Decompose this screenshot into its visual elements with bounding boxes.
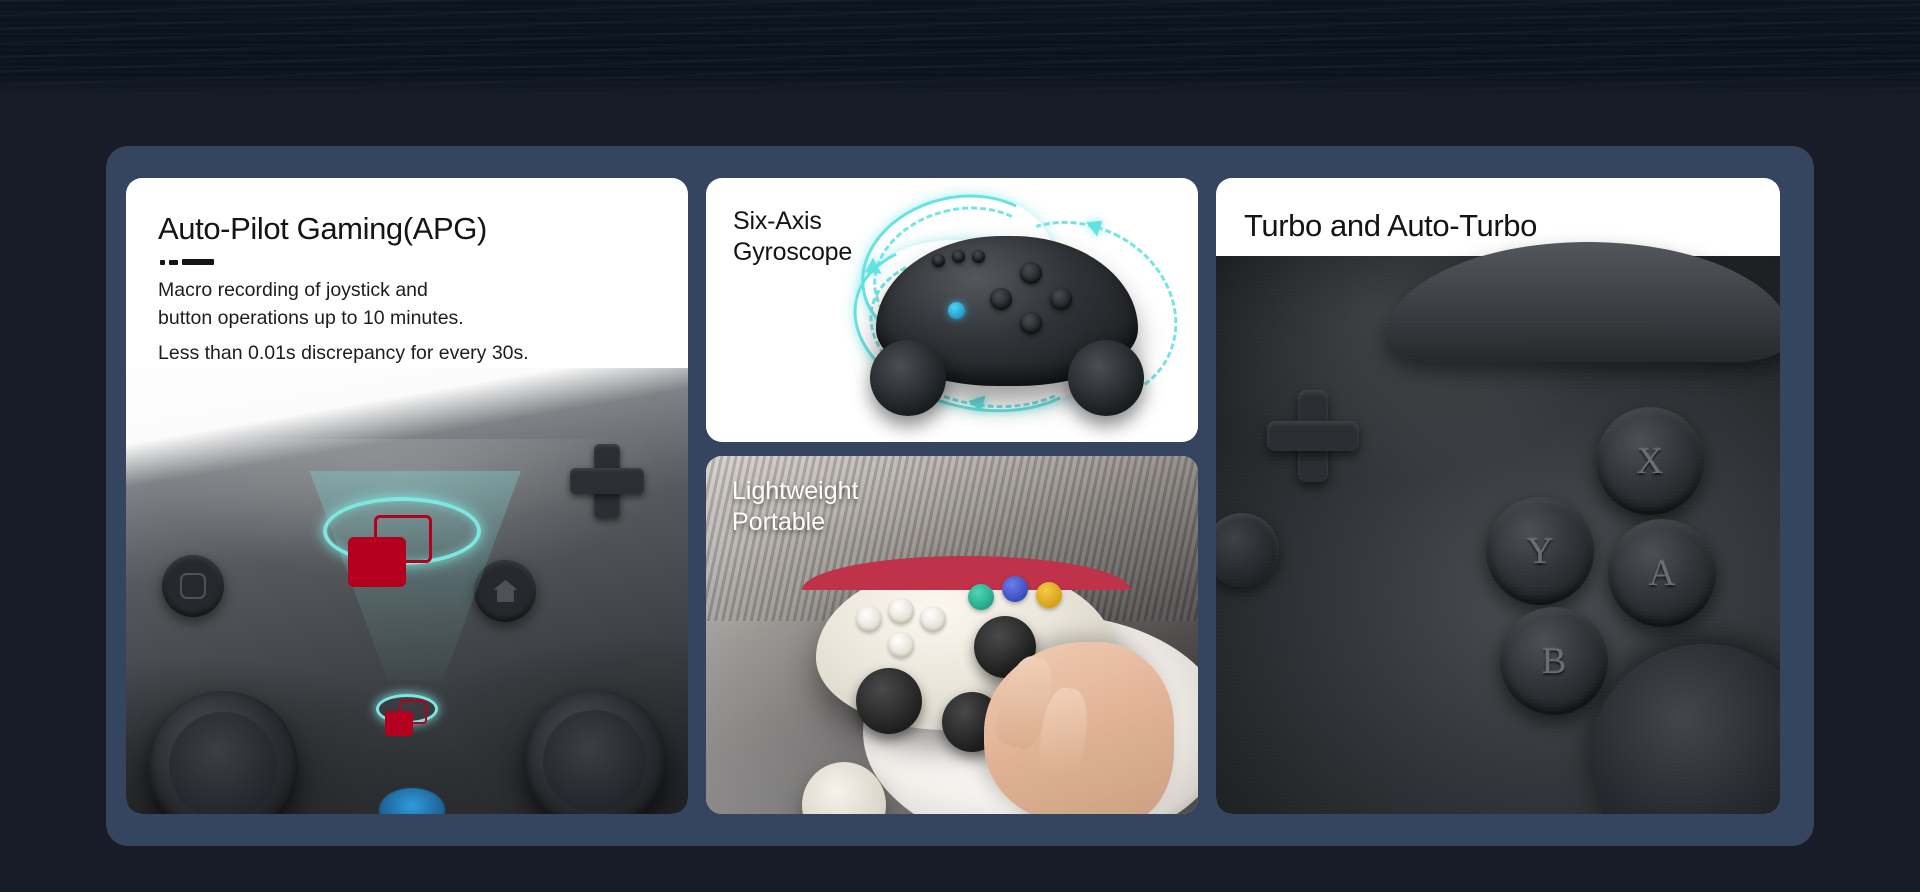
card-auto-pilot-gaming[interactable]: Auto-Pilot Gaming(APG) Macro recording o… (126, 178, 688, 814)
green-button (968, 584, 994, 610)
white-button-1 (856, 606, 882, 632)
macro-copy-icon-large (348, 515, 432, 587)
dpad-icon (570, 444, 644, 518)
button-x: X (1596, 407, 1704, 515)
white-button-2 (888, 598, 914, 624)
blue-button (1002, 576, 1028, 602)
apg-text-block: Auto-Pilot Gaming(APG) Macro recording o… (126, 178, 688, 368)
card-lightweight-portable[interactable]: Lightweight Portable (706, 456, 1198, 814)
turbo-dpad-icon (1267, 390, 1359, 482)
left-analog-stick (148, 691, 298, 814)
face-button-x (1020, 262, 1042, 284)
card-six-axis-gyroscope[interactable]: Six-Axis Gyroscope (706, 178, 1198, 442)
lightweight-title: Lightweight Portable (732, 476, 858, 537)
button-a: A (1608, 519, 1716, 627)
face-button-y (990, 288, 1012, 310)
yellow-button (1036, 582, 1062, 608)
apg-title: Auto-Pilot Gaming(APG) (158, 212, 688, 246)
capture-button-icon (162, 555, 224, 617)
white-left-stick (856, 668, 922, 734)
apg-accent-rule (160, 259, 688, 265)
turbo-home-button (1216, 513, 1279, 587)
wood-texture-backdrop (0, 0, 1920, 100)
macro-copy-icon-small (385, 700, 427, 736)
button-y: Y (1486, 497, 1594, 605)
apg-desc-line-2: button operations up to 10 minutes. (158, 307, 464, 329)
mini-button-2 (952, 250, 965, 263)
macro-beam-overlay (300, 471, 530, 681)
card-turbo-auto-turbo[interactable]: Turbo and Auto-Turbo X Y A B (1216, 178, 1780, 814)
column-middle: Six-Axis Gyroscope (706, 178, 1198, 814)
turbo-title: Turbo and Auto-Turbo (1244, 208, 1537, 244)
turbo-controller-photo: X Y A B (1216, 256, 1780, 814)
column-left: Auto-Pilot Gaming(APG) Macro recording o… (126, 178, 688, 814)
white-button-4 (888, 632, 914, 658)
right-analog-stick (524, 690, 666, 814)
mini-button-3 (972, 250, 985, 263)
feature-card-grid: Auto-Pilot Gaming(APG) Macro recording o… (126, 178, 1794, 814)
mini-button-1 (932, 254, 945, 267)
apg-desc-line-3: Less than 0.01s discrepancy for every 30… (158, 342, 529, 364)
apg-description: Macro recording of joystick and button o… (158, 277, 688, 368)
face-button-b (1020, 312, 1042, 334)
lightweight-title-line-1: Lightweight (732, 477, 858, 505)
column-right: Turbo and Auto-Turbo X Y A B (1216, 178, 1780, 814)
turbo-analog-stick (1590, 644, 1780, 814)
home-button-icon (474, 560, 536, 622)
gyroscope-illustration (824, 190, 1198, 438)
face-button-a (1050, 288, 1072, 310)
apg-controller-photo (126, 368, 688, 814)
macro-glow-ring-large (323, 497, 481, 565)
abxy-button-cluster: X Y A B (1456, 401, 1756, 701)
feature-panel: Auto-Pilot Gaming(APG) Macro recording o… (106, 146, 1814, 846)
gyroscope-title-line-1: Six-Axis (733, 207, 822, 235)
button-b: B (1500, 607, 1608, 715)
blue-led-glow (379, 788, 445, 814)
white-button-3 (920, 606, 946, 632)
macro-glow-ring-small (376, 694, 438, 724)
gyro-blue-indicator (948, 302, 965, 319)
apg-desc-line-1: Macro recording of joystick and (158, 279, 428, 301)
lightweight-title-line-2: Portable (732, 508, 825, 536)
shoulder-bumper (1385, 242, 1780, 362)
